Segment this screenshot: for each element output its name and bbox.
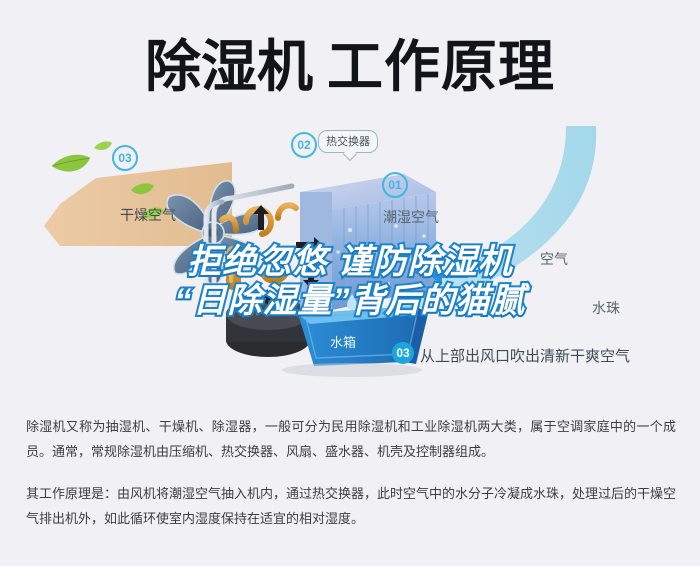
label-bottom-note: 从上部出风口吹出清新干爽空气 (420, 345, 630, 366)
compressor-base (226, 298, 310, 357)
label-water-drops: 水珠 (592, 298, 620, 318)
label-humid-air: 潮湿空气 (383, 207, 439, 227)
page-title: 除湿机工作原理 (0, 24, 700, 110)
badge-01-humid-air: 01 (382, 172, 408, 198)
page-title-part2: 工作原理 (327, 35, 555, 98)
accumulator (226, 246, 241, 290)
page-title-part1: 除湿机 (145, 35, 313, 98)
label-air: 空气 (540, 249, 568, 269)
badge-03-dry-air: 03 (112, 145, 138, 171)
article-page: 除湿机工作原理 (0, 0, 700, 566)
badge-03-bottom: 03 (392, 342, 414, 364)
heat-exchanger-fins (300, 174, 436, 310)
label-water-tank: 水箱 (330, 332, 356, 351)
label-dry-air: 干燥空气 (120, 205, 176, 225)
article-body: 除湿机又称为抽湿机、干燥机、除湿器，一般可分为民用除湿机和工业除湿机两大类，属于… (26, 414, 676, 531)
callout-heat-exchanger: 热交换器 (318, 130, 378, 153)
page-title-text: 除湿机工作原理 (145, 39, 555, 95)
badge-02-heat-exchanger: 02 (291, 132, 317, 158)
paragraph-2: 其工作原理是：由风机将潮湿空气抽入机内，通过热交换器，此时空气中的水分子冷凝成水… (26, 481, 676, 531)
leaf-icon (94, 141, 112, 150)
paragraph-1: 除湿机又称为抽湿机、干燥机、除湿器，一般可分为民用除湿机和工业除湿机两大类，属于… (26, 414, 676, 464)
dehumidifier-diagram: 03 干燥空气 02 热交换器 01 潮湿空气 空气 水珠 水箱 03 从上部出… (0, 118, 700, 388)
leaf-icon (52, 155, 90, 172)
